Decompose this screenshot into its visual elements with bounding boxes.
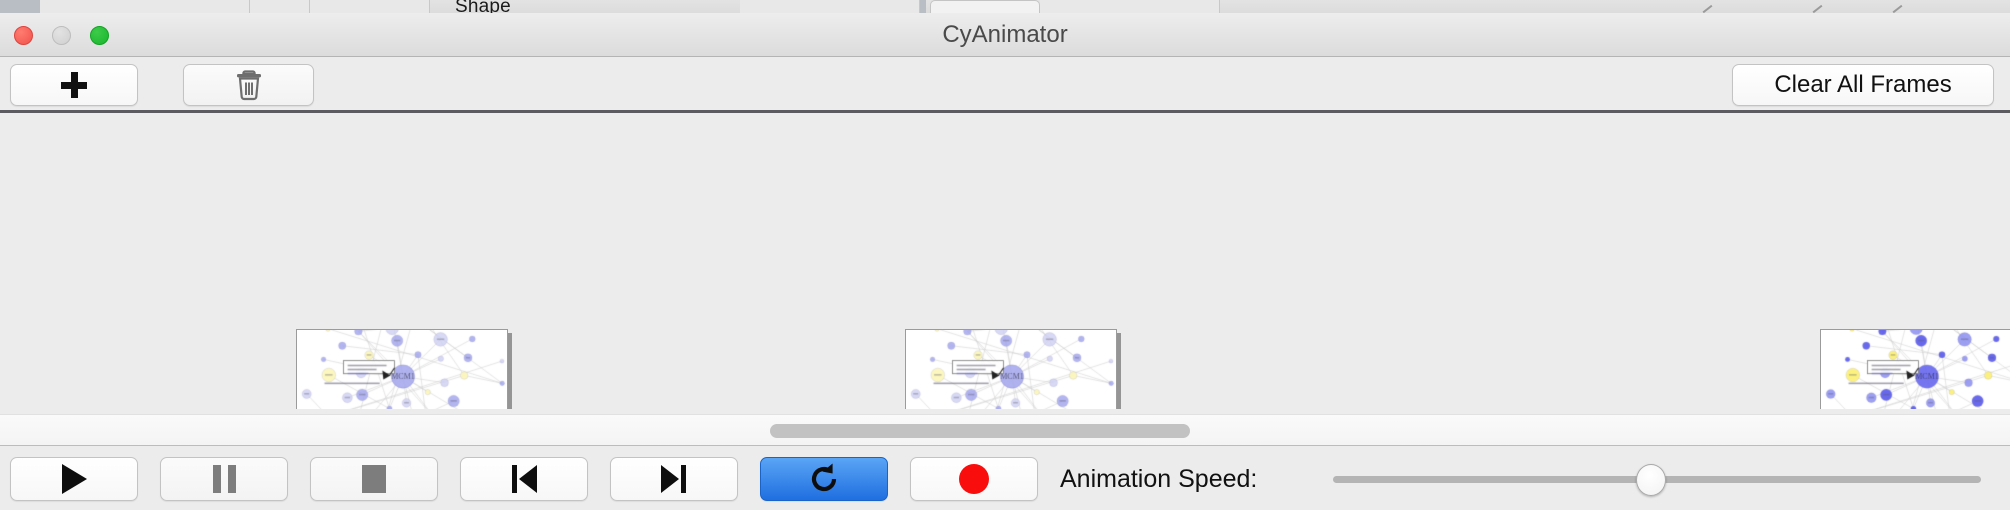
record-icon (959, 464, 989, 494)
timeline-scrollbar[interactable] (0, 414, 2010, 446)
add-frame-button[interactable] (10, 64, 138, 106)
previous-frame-button[interactable] (460, 457, 588, 501)
frame-thumbnail (297, 330, 508, 409)
playback-control-bar: Animation Speed: (0, 447, 2010, 510)
timeline-frame[interactable] (296, 329, 508, 409)
skip-next-icon (661, 465, 687, 493)
play-button[interactable] (10, 457, 138, 501)
background-window-strip: Shape (0, 0, 2010, 13)
scrollbar-thumb[interactable] (770, 424, 1190, 438)
cyanimator-window: Shape CyAnimator C (0, 0, 2010, 510)
background-window-label: Shape (455, 0, 511, 13)
loop-button[interactable] (760, 457, 888, 501)
chevron-icon (1890, 1, 1906, 13)
record-button[interactable] (910, 457, 1038, 501)
frame-thumbnail (1821, 330, 2010, 409)
animation-speed-slider[interactable] (1333, 457, 1981, 501)
slider-thumb[interactable] (1636, 464, 1666, 496)
skip-previous-icon (511, 465, 537, 493)
chevron-icon (1700, 1, 1716, 13)
clear-all-frames-label: Clear All Frames (1774, 71, 1951, 99)
stop-button (310, 457, 438, 501)
toolbar: Clear All Frames (0, 57, 2010, 111)
clear-all-frames-button[interactable]: Clear All Frames (1732, 64, 1994, 106)
title-bar: CyAnimator (0, 13, 2010, 57)
trash-icon (235, 69, 263, 101)
animation-speed-label: Animation Speed: (1060, 457, 1257, 501)
delete-frame-button[interactable] (183, 64, 314, 106)
chevron-icon (1810, 1, 1826, 13)
pause-icon (213, 465, 236, 493)
window-title: CyAnimator (0, 13, 2010, 57)
play-icon (62, 464, 87, 494)
frame-thumbnail (906, 330, 1117, 409)
pause-button (160, 457, 288, 501)
stop-icon (362, 465, 386, 493)
timeline-frame[interactable] (905, 329, 1117, 409)
timeline-panel[interactable]: 12131415161718 Seconds (0, 113, 2010, 409)
timeline-frame[interactable] (1820, 329, 2010, 409)
plus-icon (61, 72, 87, 98)
loop-icon (807, 462, 841, 496)
next-frame-button[interactable] (610, 457, 738, 501)
